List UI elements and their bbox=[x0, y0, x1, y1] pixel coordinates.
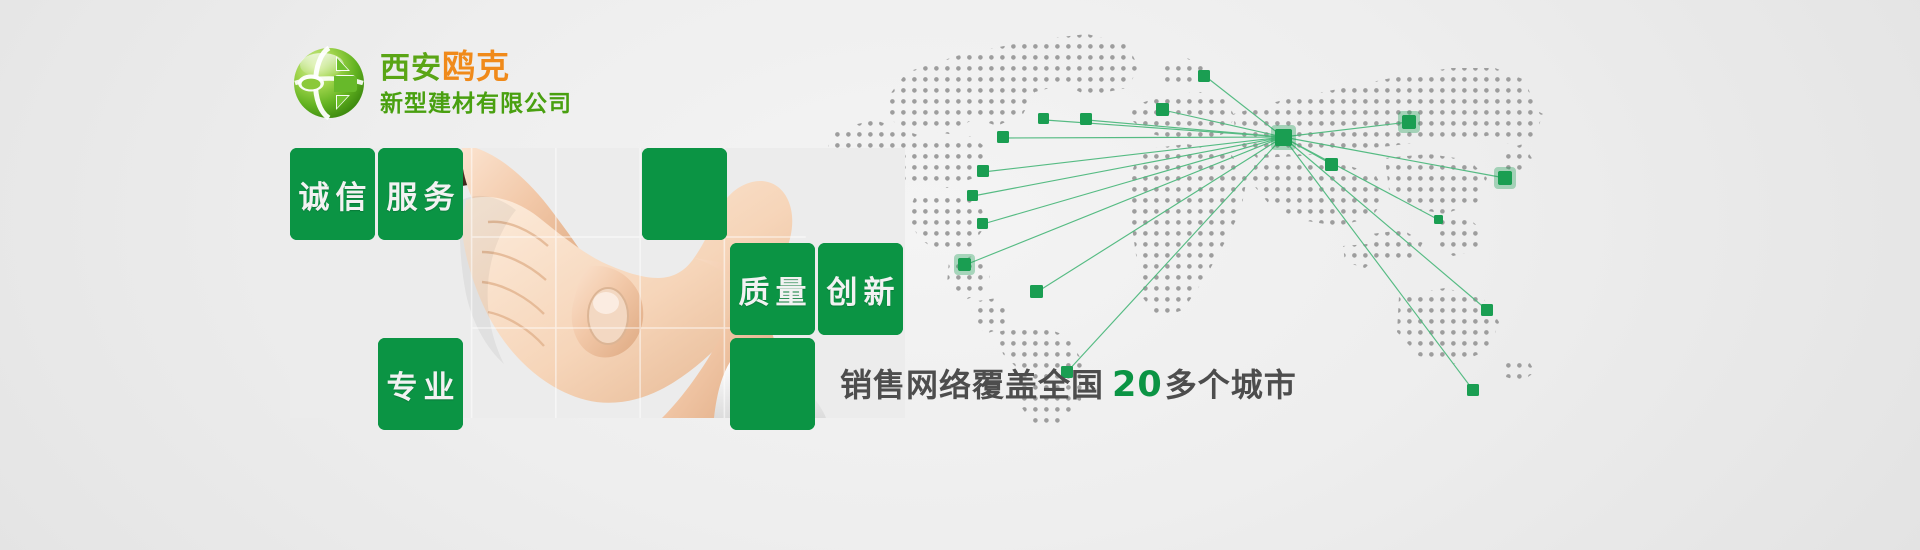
tile-photo-r2c3 bbox=[466, 243, 551, 335]
tile-overlay-r1c2: 服务 bbox=[378, 148, 463, 240]
logo-company-name-line1: 西安鸥克 bbox=[380, 50, 572, 84]
tile-overlay-r1c5 bbox=[642, 148, 727, 240]
tile-photo-r3c3 bbox=[466, 338, 551, 430]
logo-brand-text: 鸥克 bbox=[442, 47, 510, 86]
tagline-prefix: 销售网络覆盖全国 bbox=[840, 366, 1104, 404]
tile-overlay-professional-label: 专业 bbox=[381, 362, 461, 407]
tile-empty-r2c2 bbox=[378, 243, 463, 335]
tile-photo-r1c4 bbox=[554, 148, 639, 240]
tile-overlay-r3c6 bbox=[730, 338, 815, 430]
tile-overlay-integrity-label: 诚信 bbox=[293, 172, 373, 217]
logo-city-text: 西安 bbox=[380, 51, 442, 86]
tile-overlay-service-label: 服务 bbox=[381, 172, 461, 217]
tile-overlay-quality: 质量 bbox=[730, 243, 815, 335]
logo-company-name-line2: 新型建材有限公司 bbox=[380, 93, 572, 116]
tile-overlay-quality-label: 质量 bbox=[733, 267, 813, 312]
tagline-suffix: 多个城市 bbox=[1165, 366, 1297, 404]
tile-photo-r3c5 bbox=[642, 338, 727, 430]
tile-photo-r3c4 bbox=[554, 338, 639, 430]
tile-photo-r2c4 bbox=[554, 243, 639, 335]
green-globe-logo-icon bbox=[292, 46, 366, 120]
tile-empty-r2c1 bbox=[290, 243, 375, 335]
tile-overlay-professional: 专业 bbox=[378, 338, 463, 430]
company-logo[interactable]: 西安鸥克 新型建材有限公司 bbox=[292, 46, 572, 120]
tile-photo-r1c3 bbox=[466, 148, 551, 240]
tagline-city-count: 20 bbox=[1112, 365, 1163, 405]
values-tile-mosaic: 诚信 服务 质量 创新 专业 bbox=[290, 148, 905, 418]
sales-network-tagline: 销售网络覆盖全国20多个城市 bbox=[840, 360, 1297, 406]
tile-overlay-innovation: 创新 bbox=[818, 243, 903, 335]
promo-banner: 西安鸥克 新型建材有限公司 bbox=[0, 0, 1920, 550]
tile-overlay-innovation-label: 创新 bbox=[821, 267, 901, 312]
tile-photo-r2c5 bbox=[642, 243, 727, 335]
tile-overlay-r1c1: 诚信 bbox=[290, 148, 375, 240]
